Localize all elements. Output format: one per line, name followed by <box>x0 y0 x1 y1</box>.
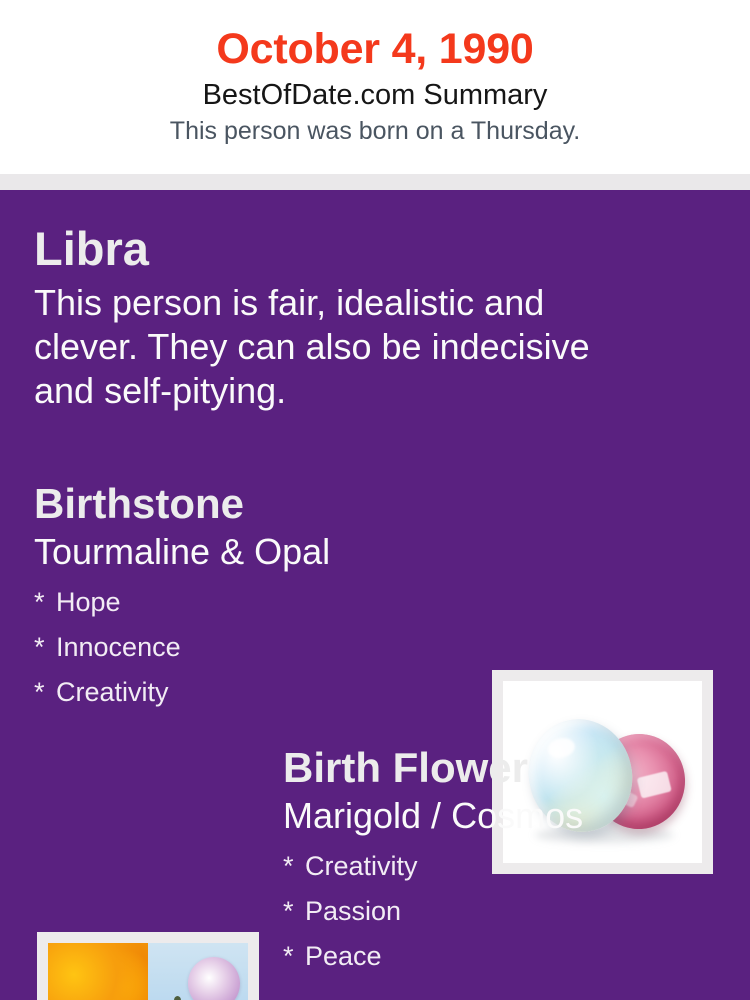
bullet-star-icon: * <box>283 934 305 979</box>
birth-flower-trait-list: *Creativity *Passion *Peace <box>283 838 743 979</box>
bullet-star-icon: * <box>283 844 305 889</box>
list-item: *Passion <box>283 889 743 934</box>
trait-label: Hope <box>56 587 121 617</box>
content-panel: Libra This person is fair, idealistic an… <box>0 190 750 1000</box>
header-divider <box>0 174 750 190</box>
birthstone-trait-list: *Hope *Innocence *Creativity <box>34 574 474 715</box>
born-day-note: This person was born on a Thursday. <box>0 114 750 148</box>
trait-label: Innocence <box>56 632 181 662</box>
site-summary-label: BestOfDate.com Summary <box>0 76 750 114</box>
flower-bud <box>174 996 181 1000</box>
trait-label: Creativity <box>56 677 169 707</box>
trait-label: Passion <box>305 896 401 926</box>
list-item: *Peace <box>283 934 743 979</box>
cosmos-bloom-icon <box>185 954 244 1000</box>
cosmos-photo-half <box>148 943 248 1000</box>
birthstone-section: Birthstone Tourmaline & Opal *Hope *Inno… <box>34 478 474 715</box>
zodiac-sign-name: Libra <box>34 220 654 277</box>
page-title-date: October 4, 1990 <box>0 22 750 76</box>
bullet-star-icon: * <box>34 580 56 625</box>
birth-flower-title: Birth Flower <box>283 742 743 794</box>
trait-label: Creativity <box>305 851 418 881</box>
marigold-photo-half <box>48 943 148 1000</box>
birth-flower-names: Marigold / Cosmos <box>283 794 743 838</box>
birth-flower-photo <box>48 943 248 1000</box>
list-item: *Innocence <box>34 625 474 670</box>
birthstone-names: Tourmaline & Opal <box>34 530 474 574</box>
birthstone-title: Birthstone <box>34 478 474 530</box>
bullet-star-icon: * <box>283 889 305 934</box>
bullet-star-icon: * <box>34 670 56 715</box>
flower-illustration <box>48 943 248 1000</box>
bullet-star-icon: * <box>34 625 56 670</box>
birth-flower-photo-frame <box>37 932 259 1000</box>
list-item: *Creativity <box>283 844 743 889</box>
zodiac-description: This person is fair, idealistic and clev… <box>34 277 654 413</box>
trait-label: Peace <box>305 941 382 971</box>
summary-card: October 4, 1990 BestOfDate.com Summary T… <box>0 0 750 1000</box>
list-item: *Creativity <box>34 670 474 715</box>
birth-flower-section: Birth Flower Marigold / Cosmos *Creativi… <box>283 742 743 979</box>
header: October 4, 1990 BestOfDate.com Summary T… <box>0 0 750 174</box>
list-item: *Hope <box>34 580 474 625</box>
zodiac-section: Libra This person is fair, idealistic an… <box>34 220 654 413</box>
